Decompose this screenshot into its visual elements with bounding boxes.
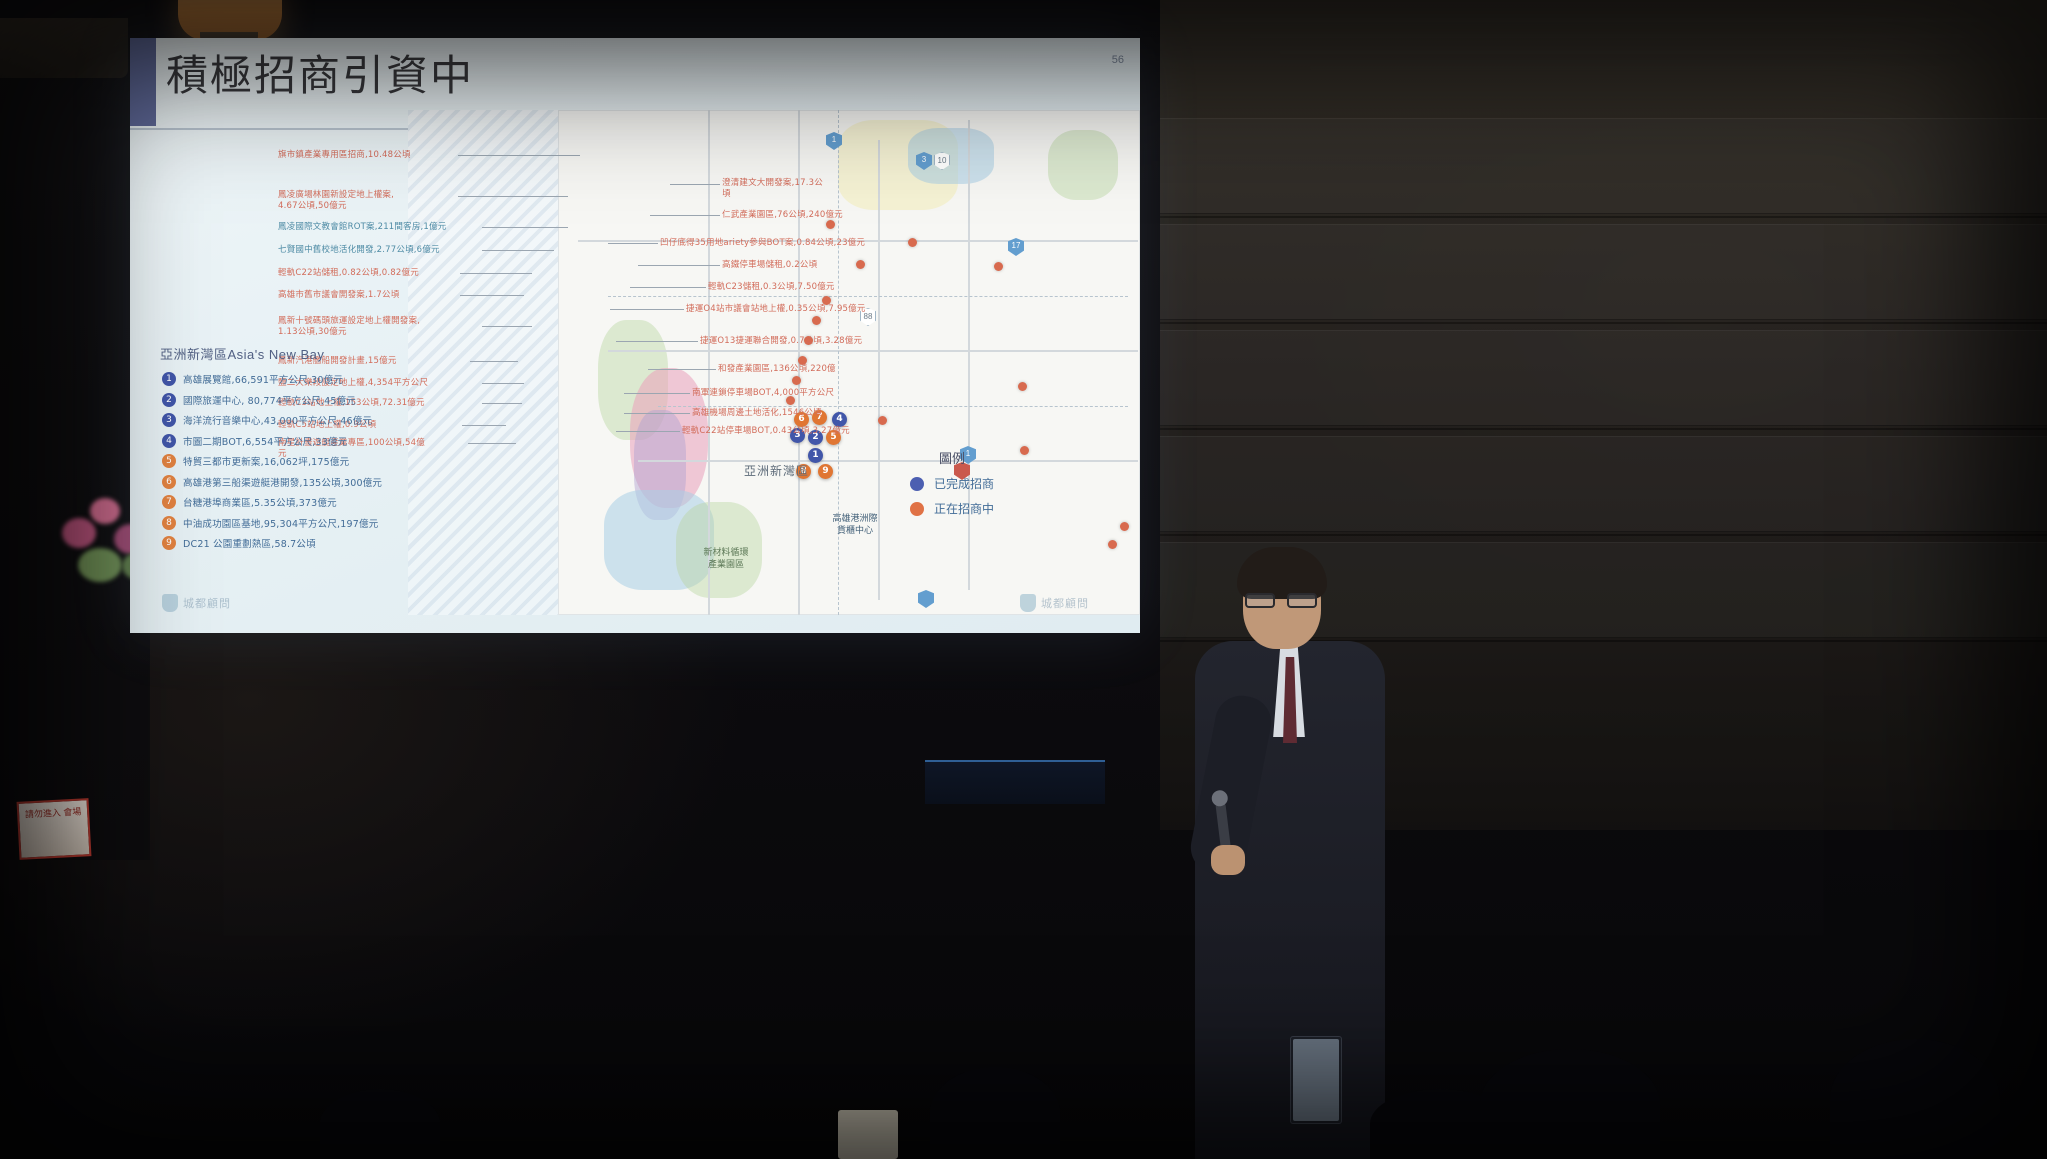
leader-line — [460, 273, 532, 274]
audience-head — [930, 1067, 1060, 1159]
list-item[interactable]: 9 DC21 公園重劃熱區,58.7公頃 — [162, 536, 412, 550]
annotation-right-6: 捷運O13捷運聯合開發,0.7公頃,3.28億元 — [700, 336, 910, 347]
slide: 積極招商引資中 56 — [130, 38, 1140, 633]
leader-line — [482, 403, 522, 404]
audience-head — [1830, 1039, 2000, 1159]
list-bullet-9: 9 — [162, 536, 176, 550]
leader-line — [468, 443, 516, 444]
annotation-right-0: 澄清建文大開發案,17.3公 頃 — [722, 178, 872, 200]
road — [608, 350, 1138, 352]
list-bullet-1: 1 — [162, 372, 176, 386]
annotation-right-3: 高鐵停車場儲租,0.2公頃 — [722, 260, 902, 271]
page-title: 積極招商引資中 — [166, 50, 474, 103]
leader-line — [624, 393, 690, 394]
left-wall-panel — [0, 18, 128, 78]
road — [638, 460, 1138, 462]
list-bullet-7: 7 — [162, 495, 176, 509]
leader-line — [648, 369, 716, 370]
road-dashed — [658, 406, 1128, 407]
audience-phone — [1290, 1036, 1342, 1124]
title-accent-bar — [130, 38, 156, 126]
map-pin[interactable] — [1018, 382, 1027, 391]
annotation-right-4: 輕軌C23儲租,0.3公頃,7.50億元 — [708, 282, 908, 293]
left-wall — [0, 0, 150, 860]
list-item-label: 國際旅運中心, 80,774平方公尺,45億元 — [183, 393, 356, 407]
leader-line — [482, 250, 554, 251]
logo-bottom-right: 城都顧問 — [1020, 594, 1089, 612]
audience-head — [1480, 1049, 1660, 1159]
logo-bottom-left: 城都顧問 — [162, 594, 231, 612]
annotation-left-5: 高雄市舊市議會開發案,1.7公頃 — [278, 290, 458, 301]
map-pin[interactable] — [1120, 522, 1129, 531]
logo-text: 城都顧問 — [183, 595, 231, 611]
leader-line — [616, 431, 680, 432]
key-dot-done-icon — [910, 477, 924, 491]
list-item-label: 高雄港第三船渠遊艇港開發,135公頃,300億元 — [183, 475, 382, 489]
leader-line — [458, 155, 580, 156]
leader-line — [638, 265, 720, 266]
key-label-progress: 正在招商中 — [934, 500, 994, 517]
leader-line — [482, 326, 532, 327]
key-dot-progress-icon — [910, 502, 924, 516]
list-bullet-3: 3 — [162, 413, 176, 427]
annotation-right-5: 捷運O4站市議會站地上權,0.35公頃,7.95億元 — [686, 304, 906, 315]
annotation-right-7: 和發產業園區,136公頃,220億 — [718, 364, 908, 375]
list-item[interactable]: 4 市圖二期BOT,6,554平方公尺,33億元 — [162, 434, 412, 448]
asia-bay-section-title: 亞洲新灣區Asia's New Bay — [160, 344, 324, 363]
list-item[interactable]: 7 台糖港埠商業區,5.35公頃,373億元 — [162, 495, 412, 509]
map-pin[interactable] — [994, 262, 1003, 271]
list-item-label: DC21 公園重劃熱區,58.7公頃 — [183, 536, 316, 550]
audience-paper — [838, 1110, 898, 1159]
annotation-left-1: 鳳凌廣場林園新設定地上權案, 4.67公頃,50億元 — [278, 190, 458, 212]
bay-area-label: 亞洲新灣區 — [744, 462, 809, 479]
map-pin[interactable] — [1108, 540, 1117, 549]
map-pin[interactable] — [908, 238, 917, 247]
annotation-left-2: 鳳凌國際文教會館ROT案,211間客房,1億元 — [278, 222, 478, 233]
key-entry-done: 已完成招商 — [910, 475, 994, 492]
leader-line — [624, 413, 690, 414]
list-item-label: 海洋流行音樂中心,43,000平方公尺,46億元 — [183, 413, 372, 427]
annotation-right-8: 南軍連鎖停車場BOT,4,000平方公尺 — [692, 388, 902, 399]
map-pin[interactable] — [812, 316, 821, 325]
logo-mark-icon — [162, 594, 178, 612]
asia-bay-list: 1 高雄展覽館,66,591平方公尺,30億元 2 國際旅運中心, 80,774… — [162, 372, 412, 557]
leader-line — [610, 309, 684, 310]
map-key: 圖例 已完成招商 正在招商中 — [910, 448, 994, 525]
list-bullet-4: 4 — [162, 434, 176, 448]
logo-text: 城都顧問 — [1041, 595, 1089, 611]
presenter-hand — [1211, 845, 1245, 875]
leader-line — [460, 295, 524, 296]
list-item-label: 高雄展覽館,66,591平方公尺,30億元 — [183, 372, 343, 386]
screenshot-root: 請勿進入 會場 積極招商引資中 56 — [0, 0, 2047, 1159]
map-numpin-1[interactable]: 1 — [808, 448, 823, 463]
key-entry-progress: 正在招商中 — [910, 500, 994, 517]
road — [708, 110, 710, 615]
annotation-right-2: 凹仔底得35用地ariety參與BOT案,0.84公頃,23億元 — [660, 238, 890, 249]
list-item[interactable]: 5 特貿三都市更新案,16,062坪,175億元 — [162, 454, 412, 468]
leader-line — [630, 287, 706, 288]
list-item[interactable]: 6 高雄港第三船渠遊艇港開發,135公頃,300億元 — [162, 475, 412, 489]
list-item-label: 中油成功園區基地,95,304平方公尺,197億元 — [183, 516, 378, 530]
list-item[interactable]: 3 海洋流行音樂中心,43,000平方公尺,46億元 — [162, 413, 412, 427]
logo-mark-icon — [1020, 594, 1036, 612]
leader-line — [670, 184, 720, 185]
list-item[interactable]: 8 中油成功園區基地,95,304平方公尺,197億元 — [162, 516, 412, 530]
floor-sign: 請勿進入 會場 — [17, 798, 92, 860]
annotation-right-10: 輕軌C22站停車場BOT,0.43公頃,3.27億元 — [682, 426, 902, 437]
projection-screen: 積極招商引資中 56 — [130, 38, 1140, 633]
audience-head — [320, 1089, 440, 1159]
presenter-hair — [1237, 547, 1327, 599]
annotation-right-1: 仁武產業園區,76公頃,240億元 — [722, 210, 902, 221]
annotation-left-4: 輕軌C22站儲租,0.82公頃,0.82億元 — [278, 268, 458, 279]
leader-line — [650, 215, 720, 216]
zone-green-ne — [1048, 130, 1118, 200]
leader-line — [616, 341, 698, 342]
leader-line — [470, 361, 518, 362]
leader-line — [482, 227, 568, 228]
map-pin[interactable] — [1020, 446, 1029, 455]
list-bullet-5: 5 — [162, 454, 176, 468]
container-center-label: 高雄港洲際 貨櫃中心 — [800, 512, 910, 536]
podium-table — [925, 760, 1105, 804]
leader-line — [462, 425, 506, 426]
list-item[interactable]: 2 國際旅運中心, 80,774平方公尺,45億元 — [162, 393, 412, 407]
annotation-right-9: 高雄機場周邊土地活化,1546公頃 — [692, 408, 902, 419]
map-pin[interactable] — [826, 220, 835, 229]
leader-line — [482, 383, 524, 384]
list-item-label: 市圖二期BOT,6,554平方公尺,33億元 — [183, 434, 347, 448]
annotation-left-3: 七賢國中舊校地活化開發,2.77公頃,6億元 — [278, 245, 478, 256]
road-dashed — [608, 296, 1128, 297]
list-bullet-8: 8 — [162, 516, 176, 530]
annotation-left-0: 旗市鎮產業專用區招商,10.48公頃 — [278, 150, 458, 161]
list-item-label: 台糖港埠商業區,5.35公頃,373億元 — [183, 495, 337, 509]
list-bullet-6: 6 — [162, 475, 176, 489]
glasses-icon — [1245, 593, 1319, 608]
hanging-lamp — [178, 0, 282, 40]
list-item-label: 特貿三都市更新案,16,062坪,175億元 — [183, 454, 349, 468]
key-title: 圖例 — [910, 448, 994, 467]
page-number: 56 — [1112, 54, 1124, 66]
key-label-done: 已完成招商 — [934, 475, 994, 492]
leader-line — [458, 196, 568, 197]
map-pin[interactable] — [792, 376, 801, 385]
list-bullet-2: 2 — [162, 393, 176, 407]
list-item[interactable]: 1 高雄展覽館,66,591平方公尺,30億元 — [162, 372, 412, 386]
annotation-left-6: 鳳新十號碼頭旅運設定地上權開發案, 1.13公頃,30億元 — [278, 316, 478, 338]
leader-line — [608, 243, 658, 244]
map-numpin-9[interactable]: 9 — [818, 464, 833, 479]
material-zone-label: 新材料循環 產業園區 — [678, 546, 774, 570]
